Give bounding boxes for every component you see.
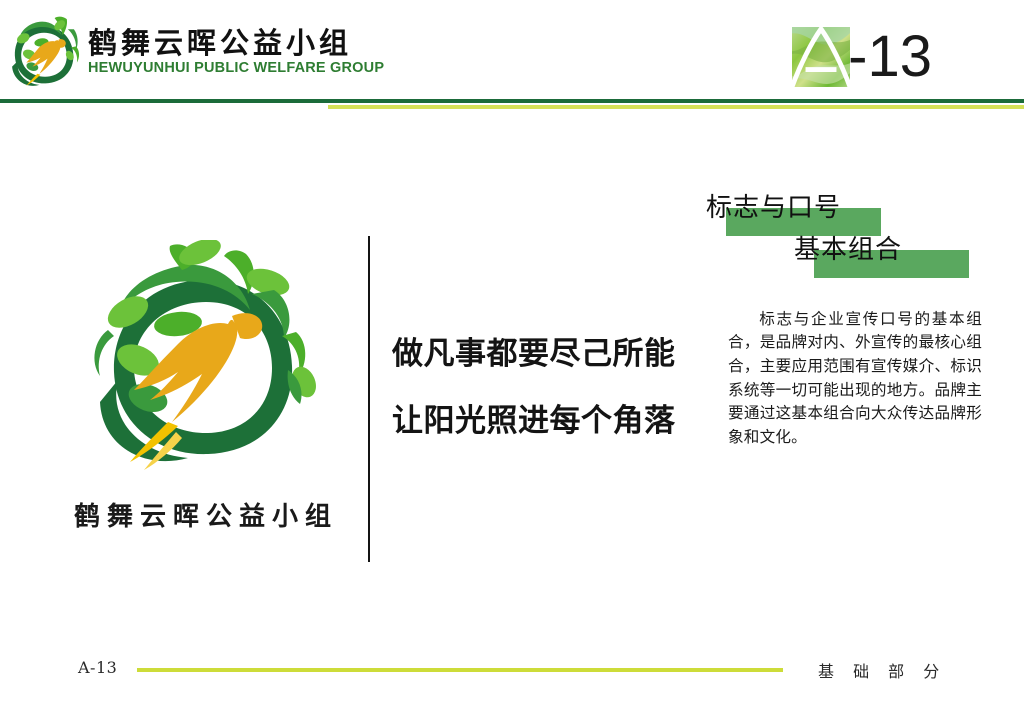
page-header: 鹤舞云晖公益小组 HEWUYUNHUI PUBLIC WELFARE GROUP	[0, 0, 1024, 110]
textured-green-a-badge-icon	[792, 27, 850, 87]
vertical-divider	[368, 236, 370, 562]
page-footer: A-13 基 础 部 分	[0, 652, 1024, 692]
slogan-block: 做凡事都要尽己所能 让阳光照进每个角落	[392, 338, 722, 437]
crane-vine-circle-logo-icon	[6, 12, 82, 92]
footer-page-code: A-13	[78, 658, 117, 677]
slogan-line-2: 让阳光照进每个角落	[392, 405, 722, 438]
title-row-1: 标志与口号	[706, 192, 1006, 230]
description-paragraph: 标志与企业宣传口号的基本组合，是品牌对内、外宣传的最核心组合，主要应用范围有宣传…	[728, 308, 982, 450]
footer-rule	[137, 668, 783, 672]
footer-section-label: 基 础 部 分	[818, 658, 946, 682]
brand-lockup: 鹤舞云晖公益小组 HEWUYUNHUI PUBLIC WELFARE GROUP	[6, 12, 384, 92]
section-title-line-2: 基本组合	[706, 235, 902, 265]
section-title-line-1: 标志与口号	[706, 193, 841, 223]
crane-vine-circle-logo-icon	[56, 240, 356, 490]
logo-wordmark: 鹤舞云晖公益小组	[46, 496, 366, 533]
brand-text: 鹤舞云晖公益小组 HEWUYUNHUI PUBLIC WELFARE GROUP	[88, 28, 384, 76]
brand-name-en: HEWUYUNHUI PUBLIC WELFARE GROUP	[88, 60, 384, 76]
logo-showcase-panel: 鹤舞云晖公益小组	[46, 240, 366, 550]
page-code-number: -13	[848, 28, 932, 86]
slogan-line-1: 做凡事都要尽己所能	[392, 338, 722, 371]
brand-name-cn: 鹤舞云晖公益小组	[88, 28, 384, 58]
header-rule-lime	[328, 105, 1024, 109]
page-code: -13	[792, 24, 932, 90]
title-row-2: 基本组合	[706, 234, 1006, 272]
slide-page: 鹤舞云晖公益小组 HEWUYUNHUI PUBLIC WELFARE GROUP	[0, 0, 1024, 722]
header-rule-dark	[0, 99, 1024, 103]
section-title-block: 标志与口号 基本组合	[706, 192, 1006, 272]
